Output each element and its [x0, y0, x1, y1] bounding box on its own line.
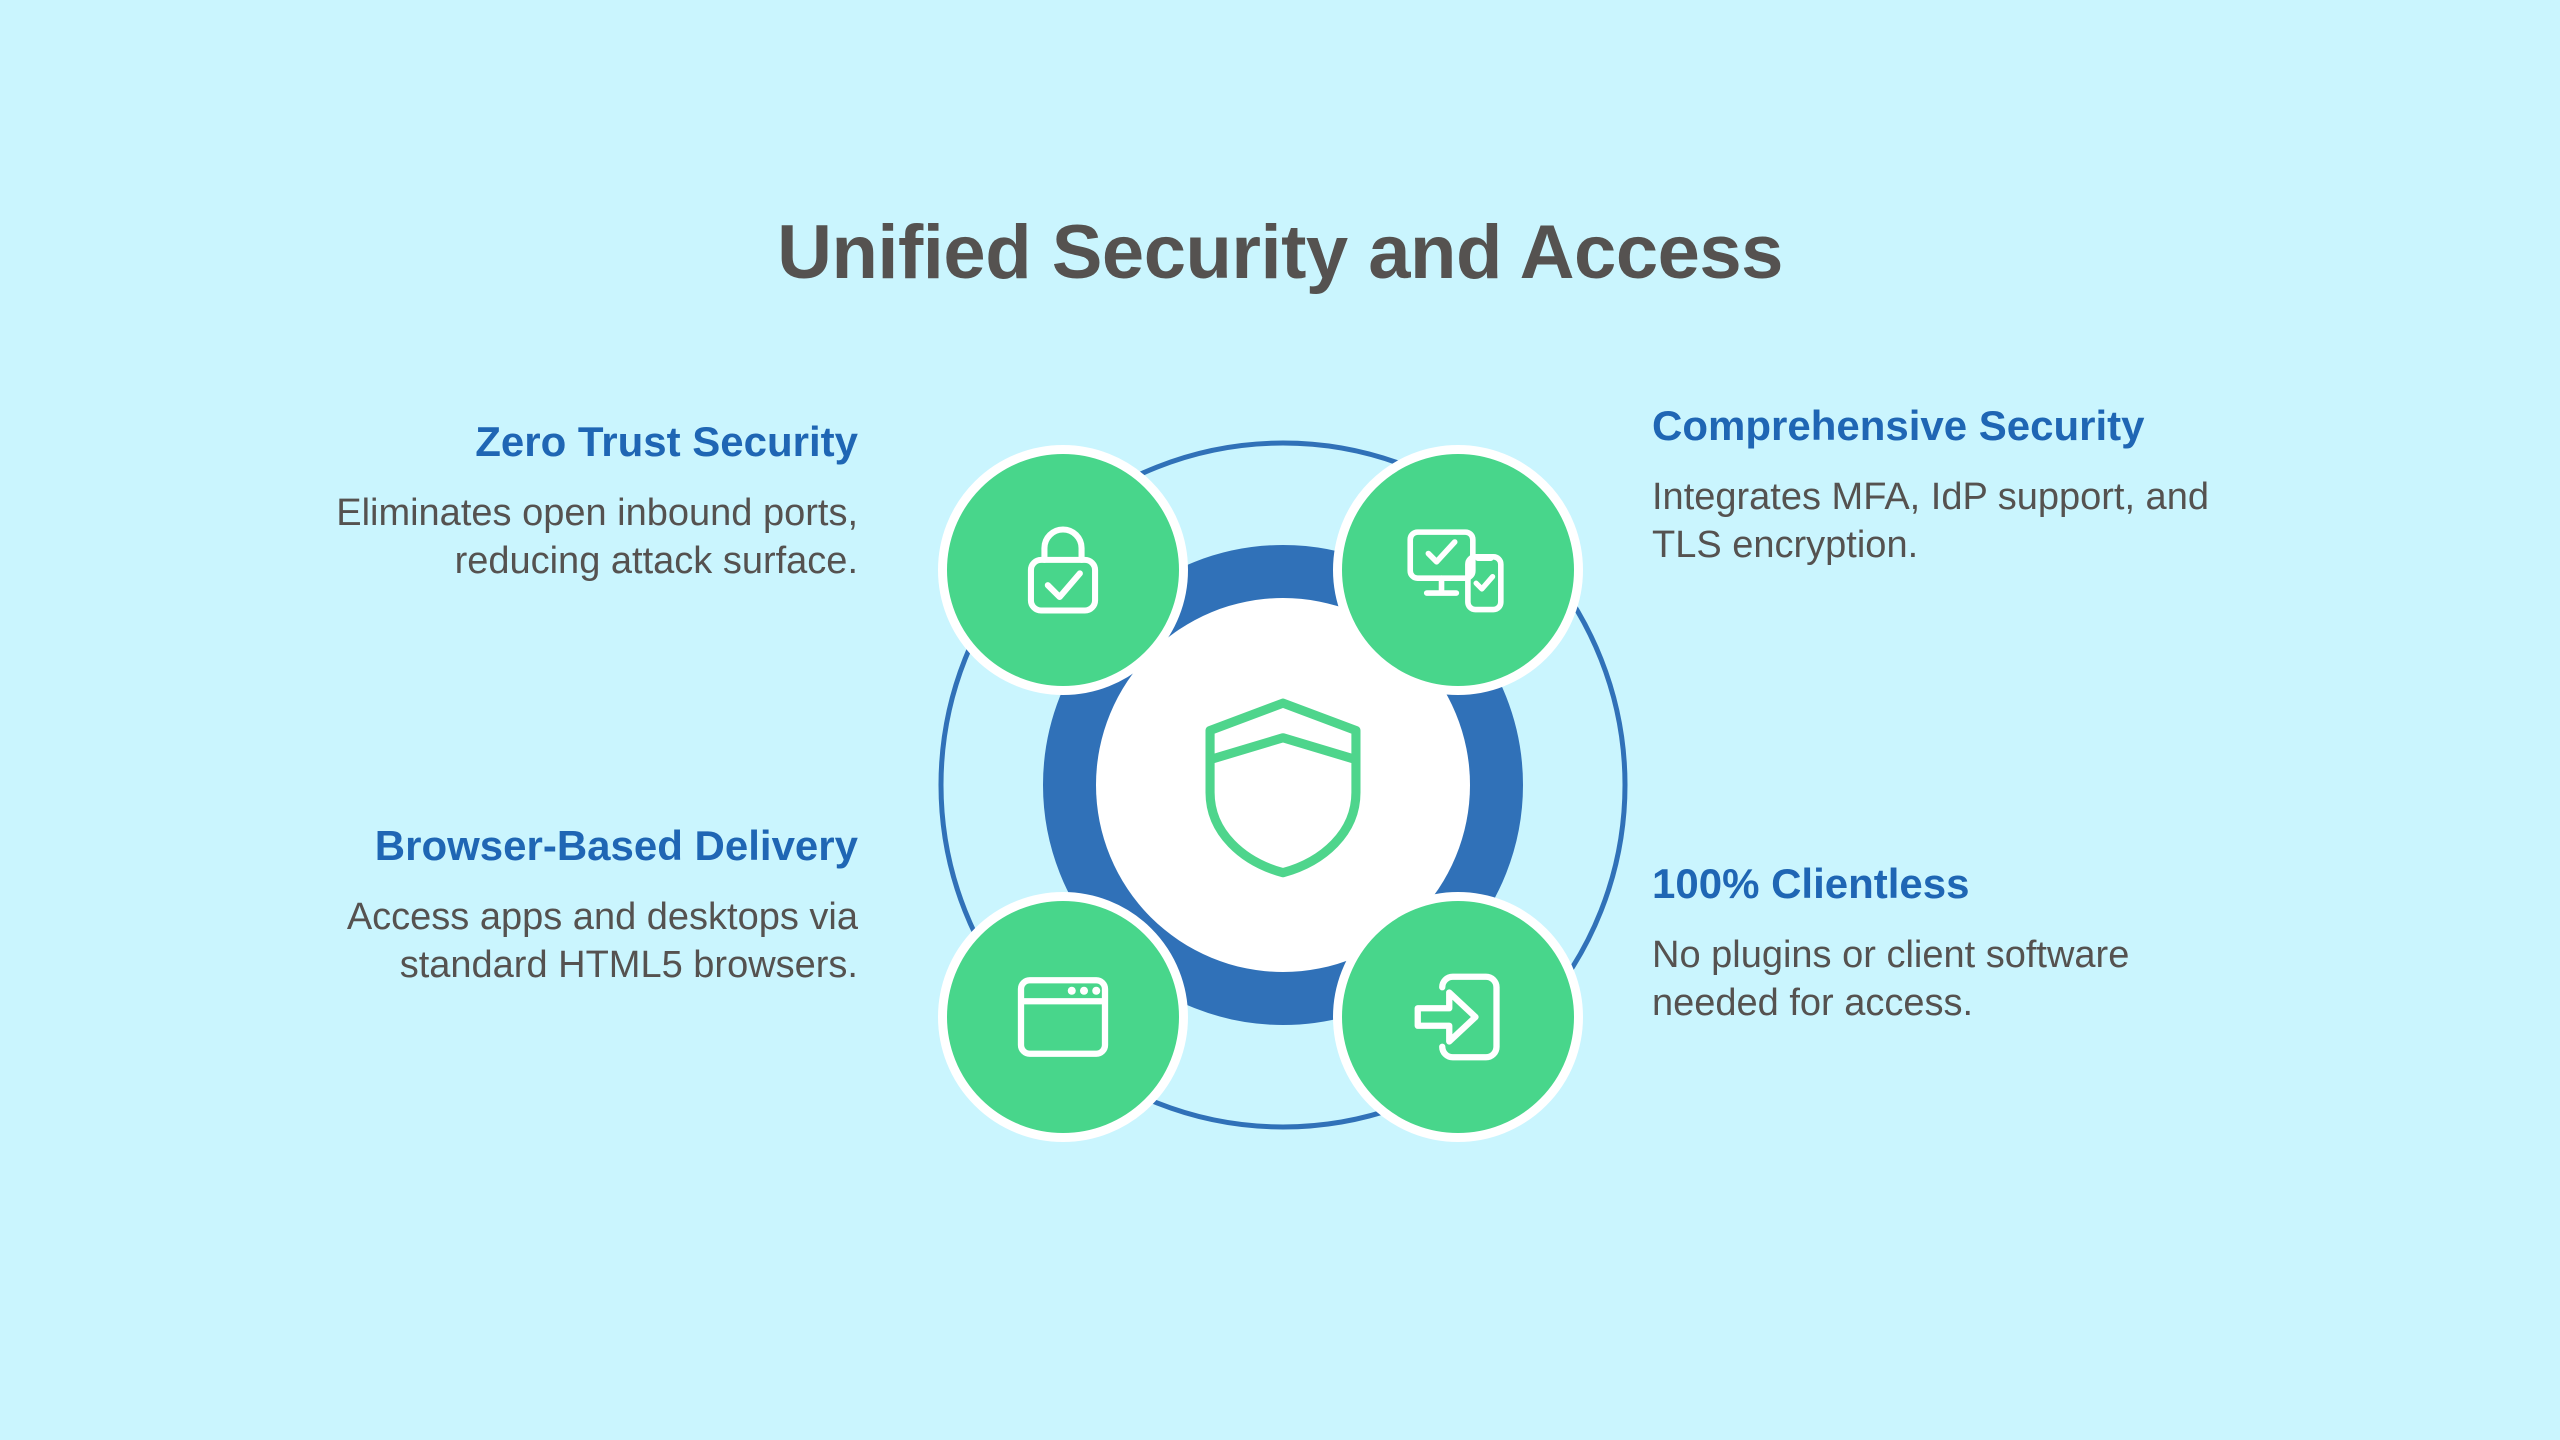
slide-canvas: Unified Security and Access Zero Trust S…	[0, 0, 2560, 1440]
feature-zero-trust-heading: Zero Trust Security	[258, 418, 858, 467]
central-diagram	[913, 415, 1653, 1155]
feature-browser-delivery-body: Access apps and desktops via standard HT…	[258, 893, 858, 990]
node-clientless[interactable]	[1333, 892, 1583, 1142]
monitor-phone-check-icon	[1402, 514, 1514, 626]
feature-comprehensive-security-body: Integrates MFA, IdP support, and TLS enc…	[1652, 473, 2252, 570]
node-comprehensive-security[interactable]	[1333, 445, 1583, 695]
feature-browser-delivery: Browser-Based Delivery Access apps and d…	[258, 822, 858, 990]
feature-clientless: 100% Clientless No plugins or client sof…	[1652, 860, 2252, 1028]
feature-zero-trust: Zero Trust Security Eliminates open inbo…	[258, 418, 858, 586]
feature-clientless-body: No plugins or client software needed for…	[1652, 931, 2252, 1028]
feature-clientless-heading: 100% Clientless	[1652, 860, 2252, 909]
node-browser-delivery[interactable]	[938, 892, 1188, 1142]
browser-window-icon	[1007, 961, 1119, 1073]
padlock-check-icon	[1009, 516, 1117, 624]
node-zero-trust[interactable]	[938, 445, 1188, 695]
shield-icon	[1195, 694, 1371, 880]
center-shield	[1155, 659, 1411, 915]
feature-comprehensive-security: Comprehensive Security Integrates MFA, I…	[1652, 402, 2252, 570]
page-title: Unified Security and Access	[0, 211, 2560, 295]
feature-browser-delivery-heading: Browser-Based Delivery	[258, 822, 858, 871]
feature-comprehensive-security-heading: Comprehensive Security	[1652, 402, 2252, 451]
login-arrow-icon	[1402, 961, 1514, 1073]
feature-zero-trust-body: Eliminates open inbound ports, reducing …	[258, 489, 858, 586]
